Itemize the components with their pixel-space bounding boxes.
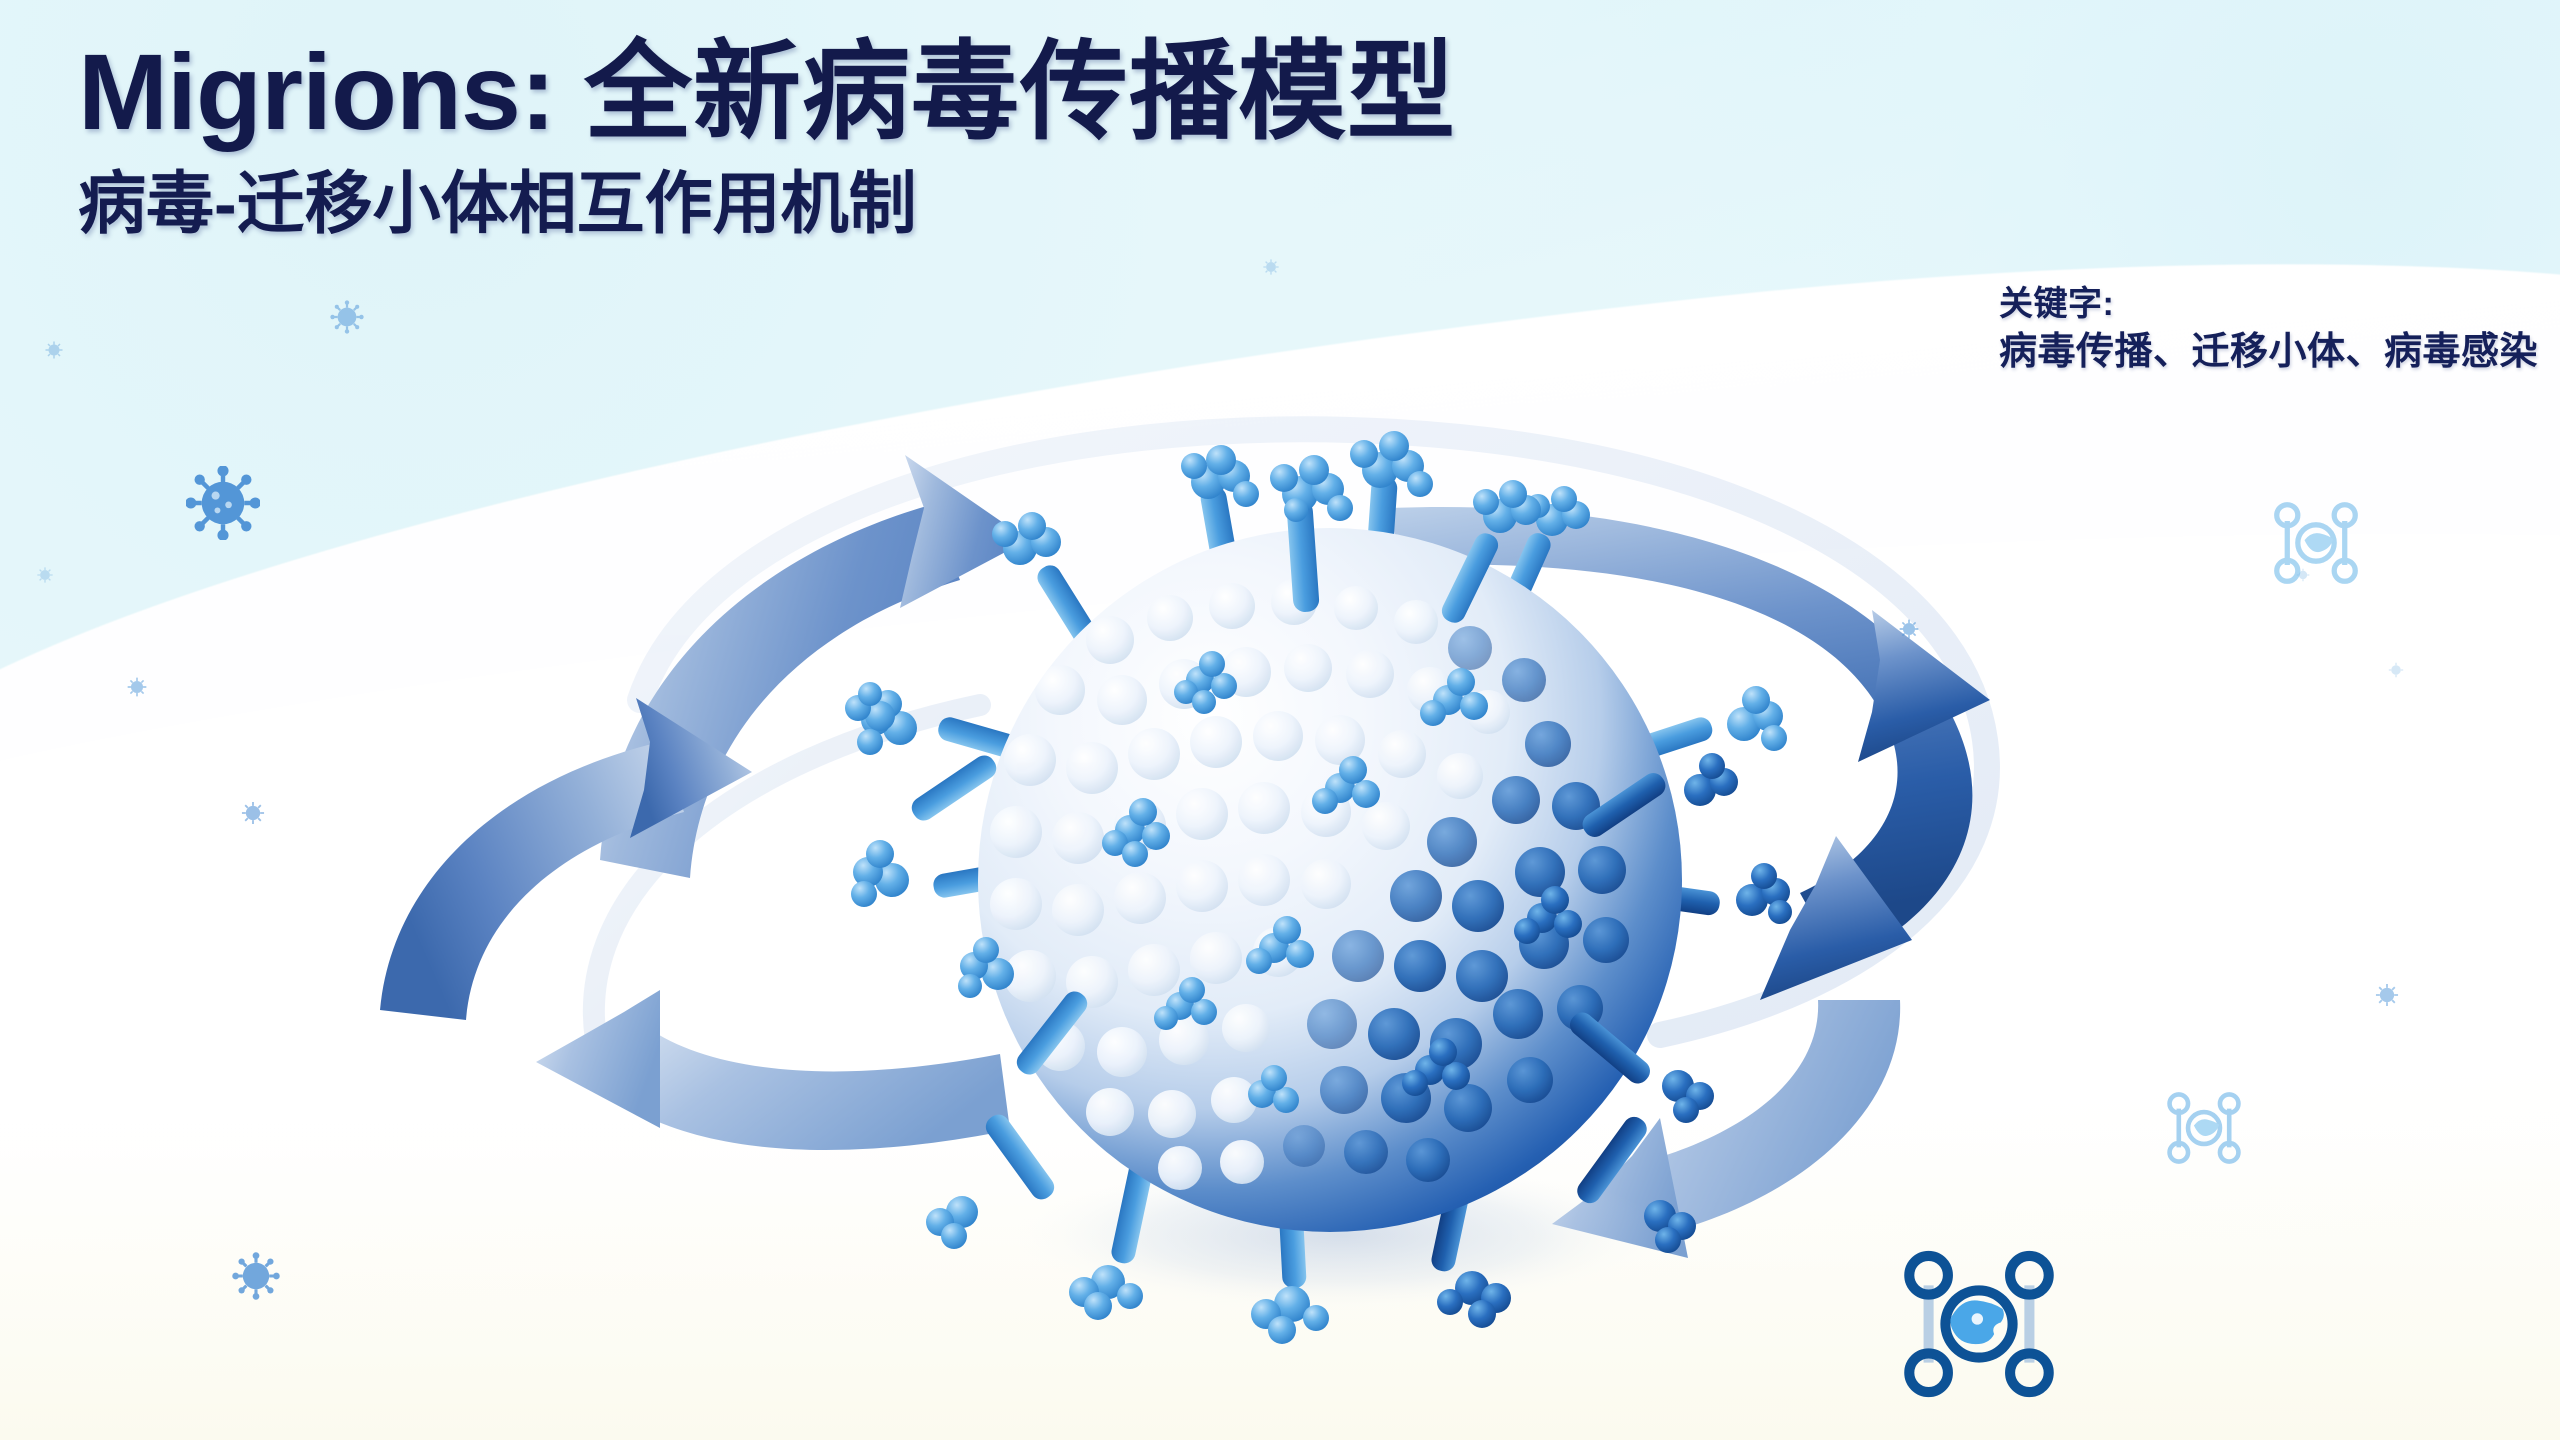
virus-particle-icon: [2388, 662, 2404, 678]
virus-particle-icon: [126, 676, 148, 698]
virus-network-icon: [2162, 1088, 2246, 1168]
title-block: Migrions: 全新病毒传播模型 病毒-迁移小体相互作用机制: [78, 26, 1456, 245]
virus-network-icon: [1895, 1244, 2063, 1404]
keywords-label: 关键字:: [1999, 282, 2538, 328]
virus-particle-icon: [232, 1252, 280, 1300]
virus-network-icon: [2268, 498, 2364, 588]
virus-particle-icon: [1262, 258, 1280, 276]
virus-particle-icon: [44, 340, 64, 360]
keywords-value: 病毒传播、迁移小体、病毒感染: [1999, 328, 2538, 377]
virus-particle-icon: [36, 566, 54, 584]
poster-canvas: Migrions: 全新病毒传播模型 病毒-迁移小体相互作用机制 关键字: 病毒…: [0, 0, 2560, 1440]
keywords-block: 关键字: 病毒传播、迁移小体、病毒感染: [1999, 282, 2538, 377]
virus-body: [978, 528, 1682, 1232]
page-subtitle: 病毒-迁移小体相互作用机制: [78, 164, 1456, 246]
orbit-arrow-bottom-left: [536, 990, 1010, 1150]
virus-particle-icon: [186, 466, 260, 540]
page-title-cjk: 全新病毒传播模型: [584, 31, 1456, 152]
virus-particle-icon: [240, 800, 266, 826]
virus-particle-icon: [1898, 618, 1920, 640]
page-title: Migrions: 全新病毒传播模型: [78, 26, 1456, 158]
page-title-latin: Migrions:: [78, 31, 555, 152]
orbit-arrow-mid-left: [380, 698, 752, 1020]
virus-particle-icon: [2374, 982, 2400, 1008]
virus-particle-icon: [330, 300, 364, 334]
